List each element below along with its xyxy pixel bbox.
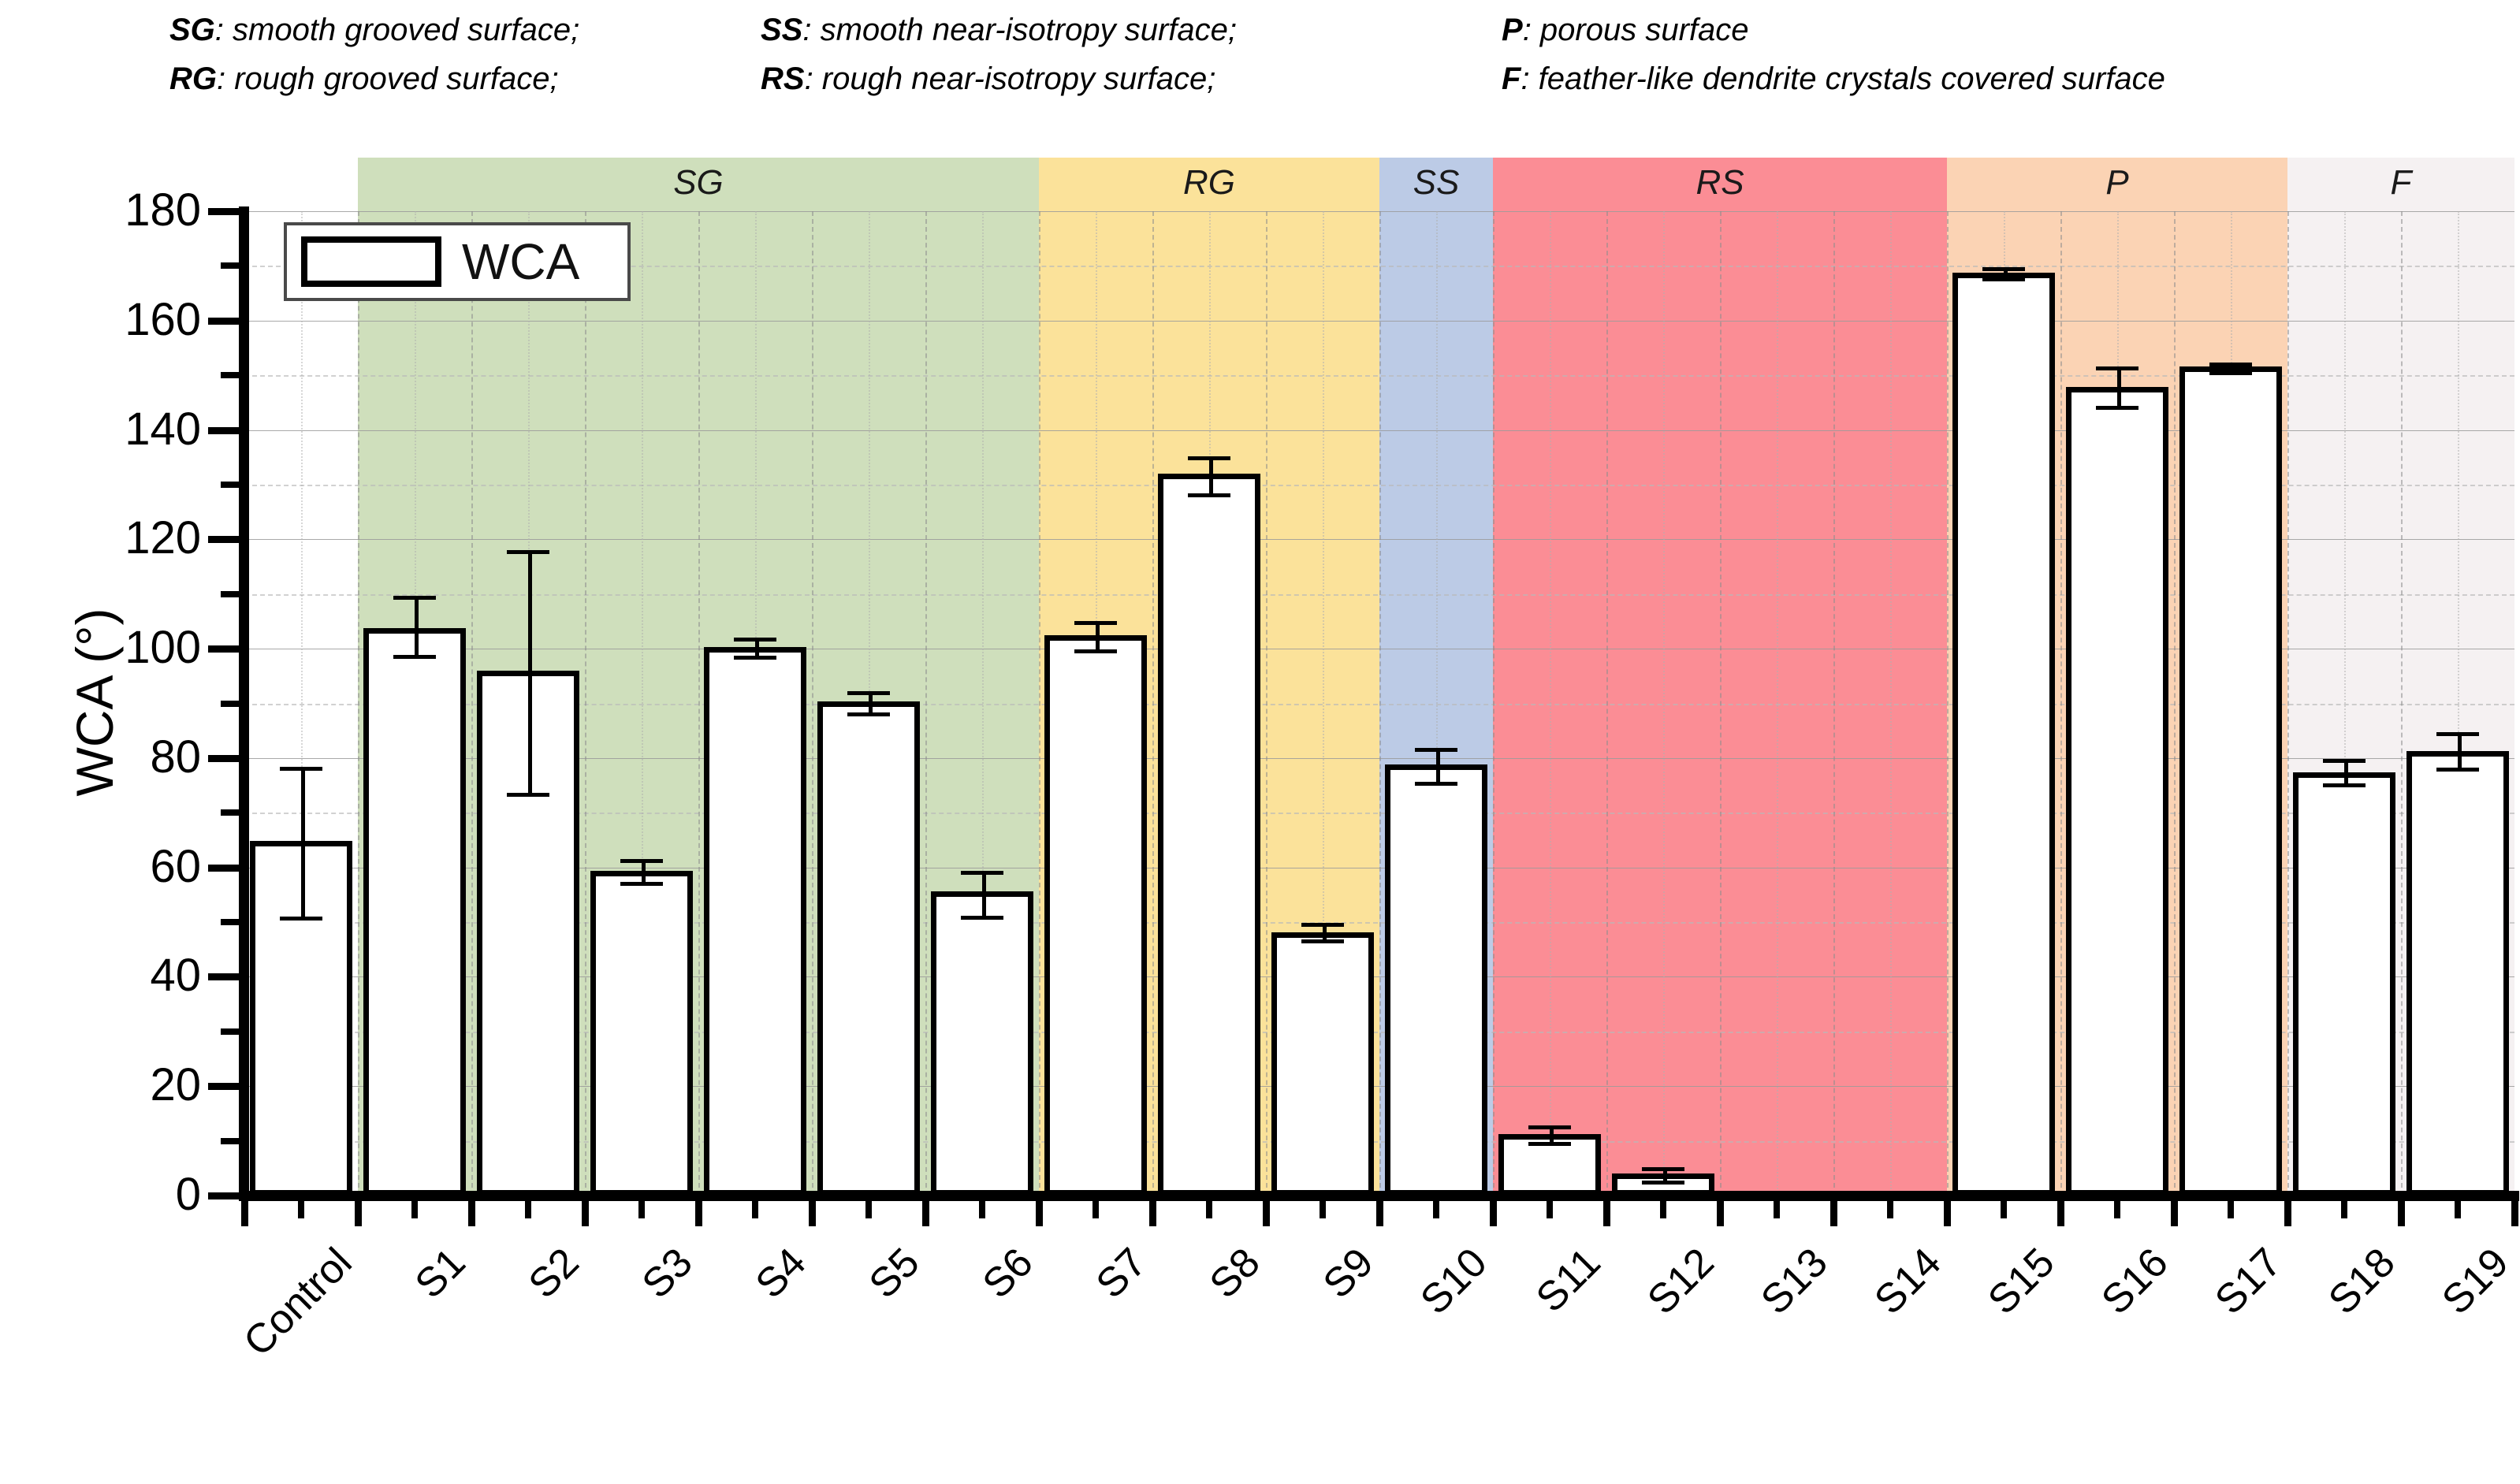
key-desc-f: : feather-like dendrite crystals covered…	[1521, 61, 2165, 96]
error-cap-upper-s10	[1415, 748, 1457, 752]
bar-s9	[1271, 932, 1374, 1196]
error-bar-s8	[1209, 456, 1213, 493]
error-cap-upper-s11	[1528, 1125, 1571, 1129]
error-bar-s6	[982, 871, 986, 916]
error-cap-lower-s16	[2096, 406, 2138, 410]
band-label-p: P	[1947, 158, 2287, 211]
bar-s18	[2293, 772, 2395, 1196]
y-tick-label-20: 20	[32, 1062, 201, 1108]
error-cap-lower-s6	[961, 916, 1003, 920]
band-label-strip: SGRGSSRSPF	[244, 158, 2514, 211]
x-tick-major-10	[1376, 1199, 1383, 1226]
x-tick-minor-2	[525, 1199, 531, 1218]
legend-label-wca: WCA	[462, 236, 579, 287]
legend: WCA	[284, 222, 631, 301]
bar-series	[244, 211, 2514, 1196]
error-cap-lower-s11	[1528, 1142, 1571, 1146]
bar-s16	[2066, 387, 2168, 1196]
x-tick-major-13	[1717, 1199, 1724, 1226]
key-desc-rs: : rough near-isotropy surface;	[805, 61, 1216, 96]
x-tick-minor-3	[638, 1199, 645, 1218]
legend-swatch-wca	[301, 236, 441, 287]
x-tick-minor-14	[1887, 1199, 1893, 1218]
x-tick-major-20	[2511, 1199, 2518, 1226]
x-tick-minor-4	[752, 1199, 758, 1218]
error-cap-upper-s5	[847, 691, 890, 695]
chart-root: SG: smooth grooved surface; SS: smooth n…	[0, 0, 2520, 1393]
error-cap-upper-s3	[620, 859, 663, 863]
x-tick-major-17	[2171, 1199, 2178, 1226]
y-tick-label-0: 0	[32, 1172, 201, 1218]
x-tick-minor-16	[2114, 1199, 2120, 1218]
band-label-rg: RG	[1039, 158, 1379, 211]
x-tick-minor-8	[1206, 1199, 1212, 1218]
bar-s10	[1385, 764, 1487, 1196]
x-tick-minor-15	[2001, 1199, 2007, 1218]
band-label-sg: SG	[358, 158, 1039, 211]
y-tick-160	[208, 318, 241, 325]
band-label-ss: SS	[1379, 158, 1493, 211]
error-cap-lower-s1	[393, 655, 436, 659]
x-tick-major-7	[1036, 1199, 1043, 1226]
error-cap-upper-s1	[393, 596, 436, 600]
error-bar-s19	[2458, 732, 2462, 767]
key-item-f: F: feather-like dendrite crystals covere…	[1502, 57, 2165, 101]
key-abbr-p: P	[1502, 13, 1523, 47]
y-tick-140	[208, 427, 241, 434]
error-cap-lower-s15	[1982, 277, 2025, 281]
x-tick-major-19	[2398, 1199, 2405, 1226]
x-tick-minor-5	[865, 1199, 872, 1218]
error-cap-upper-s7	[1074, 621, 1117, 625]
error-cap-lower-control	[280, 917, 322, 921]
error-cap-upper-s2	[507, 550, 549, 554]
key-item-rg: RG: rough grooved surface;	[169, 57, 559, 101]
error-cap-lower-s17	[2209, 371, 2252, 375]
key-abbr-ss: SS	[761, 13, 802, 47]
key-abbr-rg: RG	[169, 61, 217, 96]
error-bar-s2	[528, 550, 532, 793]
y-tick-170	[221, 262, 241, 269]
x-tick-major-4	[695, 1199, 702, 1226]
y-tick-150	[221, 372, 241, 378]
x-tick-minor-18	[2341, 1199, 2347, 1218]
x-tick-minor-10	[1433, 1199, 1439, 1218]
bar-s5	[817, 701, 920, 1196]
error-bar-s16	[2117, 366, 2121, 406]
abbreviation-key: SG: smooth grooved surface; SS: smooth n…	[0, 0, 2520, 142]
y-tick-70	[221, 809, 241, 816]
x-tick-major-14	[1830, 1199, 1837, 1226]
y-tick-180	[208, 208, 241, 215]
x-tick-minor-17	[2228, 1199, 2234, 1218]
x-tick-major-11	[1490, 1199, 1497, 1226]
x-tick-minor-7	[1092, 1199, 1099, 1218]
x-tick-major-12	[1603, 1199, 1610, 1226]
error-cap-upper-s15	[1982, 267, 2025, 271]
x-tick-minor-11	[1547, 1199, 1553, 1218]
error-cap-lower-s7	[1074, 649, 1117, 653]
y-tick-40	[208, 973, 241, 980]
error-cap-upper-control	[280, 767, 322, 771]
band-label-rs: RS	[1493, 158, 1947, 211]
error-cap-upper-s9	[1301, 923, 1344, 927]
error-cap-lower-s5	[847, 712, 890, 716]
x-tick-major-2	[468, 1199, 475, 1226]
x-tick-major-6	[922, 1199, 929, 1226]
y-tick-50	[221, 919, 241, 925]
key-abbr-f: F	[1502, 61, 1521, 96]
x-tick-major-3	[582, 1199, 589, 1226]
y-tick-120	[208, 536, 241, 543]
y-tick-20	[208, 1083, 241, 1090]
x-tick-minor-6	[979, 1199, 985, 1218]
x-tick-major-9	[1263, 1199, 1270, 1226]
x-tick-major-15	[1944, 1199, 1951, 1226]
key-desc-p: : porous surface	[1523, 13, 1749, 47]
key-desc-sg: : smooth grooved surface;	[215, 13, 579, 47]
x-tick-minor-1	[411, 1199, 418, 1218]
key-abbr-sg: SG	[169, 13, 215, 47]
y-tick-label-140: 140	[32, 407, 201, 452]
bar-s8	[1158, 474, 1260, 1196]
y-tick-label-180: 180	[32, 188, 201, 233]
y-tick-90	[221, 701, 241, 707]
error-cap-upper-s18	[2323, 759, 2366, 763]
error-cap-upper-s19	[2436, 732, 2479, 736]
x-tick-major-16	[2057, 1199, 2064, 1226]
key-row-1: SG: smooth grooved surface; SS: smooth n…	[0, 8, 2520, 55]
x-tick-minor-9	[1320, 1199, 1326, 1218]
error-cap-lower-s18	[2323, 783, 2366, 787]
band-label-f: F	[2287, 158, 2514, 211]
error-cap-lower-s3	[620, 882, 663, 886]
y-tick-130	[221, 482, 241, 488]
error-cap-lower-s9	[1301, 939, 1344, 943]
y-tick-110	[221, 591, 241, 597]
error-cap-lower-s12	[1642, 1181, 1684, 1185]
y-tick-10	[221, 1138, 241, 1144]
y-tick-80	[208, 755, 241, 762]
y-axis-title: WCA (°)	[65, 537, 125, 868]
error-bar-s10	[1436, 748, 1440, 782]
bar-s3	[590, 871, 693, 1196]
error-cap-lower-s4	[734, 656, 776, 660]
x-tick-minor-12	[1660, 1199, 1666, 1218]
error-cap-lower-s2	[507, 793, 549, 797]
y-tick-60	[208, 865, 241, 872]
x-tick-major-18	[2284, 1199, 2291, 1226]
y-tick-label-40: 40	[32, 953, 201, 999]
key-desc-rg: : rough grooved surface;	[217, 61, 559, 96]
error-bar-s1	[415, 596, 419, 655]
bar-s4	[704, 647, 806, 1196]
error-cap-upper-s12	[1642, 1167, 1684, 1171]
key-row-2: RG: rough grooved surface; RS: rough nea…	[0, 57, 2520, 104]
key-item-p: P: porous surface	[1502, 8, 1749, 52]
error-bar-control	[301, 767, 305, 917]
error-cap-upper-s4	[734, 638, 776, 642]
x-tick-minor-13	[1774, 1199, 1780, 1218]
error-bar-s7	[1096, 621, 1100, 649]
error-cap-lower-s8	[1188, 493, 1230, 497]
x-tick-major-1	[355, 1199, 362, 1226]
bar-s15	[1952, 273, 2055, 1196]
plot-area	[244, 211, 2514, 1196]
bar-s7	[1044, 635, 1147, 1196]
error-cap-upper-s6	[961, 871, 1003, 875]
x-tick-major-8	[1149, 1199, 1156, 1226]
y-tick-0	[208, 1192, 241, 1199]
x-tick-minor-19	[2455, 1199, 2461, 1218]
key-item-ss: SS: smooth near-isotropy surface;	[761, 8, 1237, 52]
x-tick-major-0	[241, 1199, 248, 1226]
key-item-sg: SG: smooth grooved surface;	[169, 8, 579, 52]
y-tick-30	[221, 1028, 241, 1035]
bar-s1	[363, 628, 466, 1196]
x-tick-minor-0	[298, 1199, 304, 1218]
error-cap-upper-s17	[2209, 363, 2252, 366]
bar-s19	[2406, 751, 2509, 1196]
key-desc-ss: : smooth near-isotropy surface;	[802, 13, 1237, 47]
y-tick-100	[208, 645, 241, 653]
y-tick-label-160: 160	[32, 297, 201, 343]
error-cap-lower-s19	[2436, 768, 2479, 772]
key-item-rs: RS: rough near-isotropy surface;	[761, 57, 1215, 101]
key-abbr-rs: RS	[761, 61, 805, 96]
error-cap-upper-s16	[2096, 366, 2138, 370]
bar-s17	[2179, 366, 2282, 1196]
bar-s6	[931, 891, 1033, 1196]
x-tick-major-5	[809, 1199, 816, 1226]
error-cap-lower-s10	[1415, 782, 1457, 786]
error-cap-upper-s8	[1188, 456, 1230, 460]
